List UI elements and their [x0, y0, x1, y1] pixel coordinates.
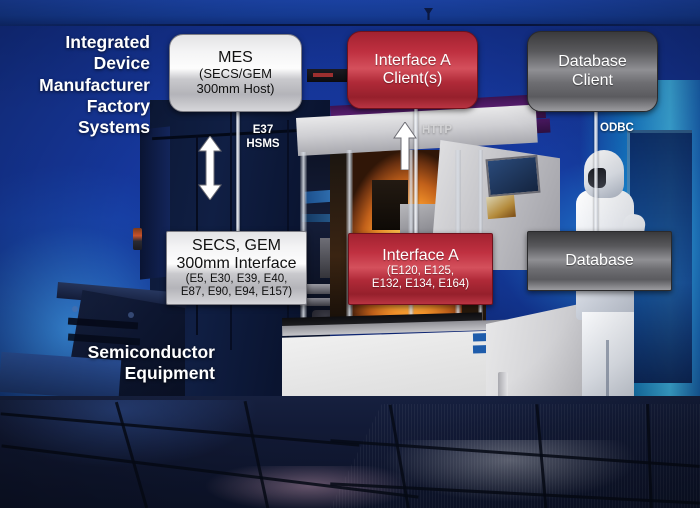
- secs-gem-line-2: 300mm Interface: [176, 255, 296, 273]
- bidirectional-arrow: [196, 136, 224, 200]
- interface-a-line-2: (E120, E125,: [387, 265, 454, 278]
- semiconductor-equipment-caption: Semiconductor Equipment: [40, 342, 215, 385]
- tool-keypad: [486, 195, 516, 219]
- mes-node[interactable]: MES (SECS/GEM 300mm Host): [169, 34, 302, 112]
- secs-gem-interface-node[interactable]: SECS, GEM 300mm Interface (E5, E30, E39,…: [166, 231, 307, 305]
- diagram-screenshot: E37 HSMS HTTP ODBC MES (SECS/GEM 300mm H…: [0, 0, 700, 508]
- base-fastener: [72, 306, 78, 312]
- interface-a-clients-line-1: Interface A: [374, 52, 451, 70]
- interface-a-clients-node[interactable]: Interface A Client(s): [347, 31, 478, 109]
- base-fastener: [128, 312, 134, 318]
- ceiling-seam: [0, 24, 700, 26]
- mes-node-line-1: MES: [218, 49, 253, 67]
- interface-a-line-3: E132, E134, E164): [372, 278, 469, 291]
- idm-factory-systems-caption: Integrated Device Manufacturer Factory S…: [20, 32, 150, 139]
- database-client-line-2: Client: [572, 72, 613, 90]
- mes-node-line-2: (SECS/GEM: [199, 67, 272, 82]
- database-client-node[interactable]: Database Client: [527, 31, 658, 112]
- connector-label-e37-hsms: E37 HSMS: [228, 124, 298, 152]
- secs-gem-line-3: (E5, E30, E39, E40,: [186, 273, 288, 286]
- connector-label-odbc: ODBC: [586, 122, 690, 136]
- database-line-1: Database: [565, 252, 634, 270]
- secs-gem-line-4: E87, E90, E94, E157): [181, 286, 292, 299]
- database-node[interactable]: Database: [527, 231, 672, 291]
- secs-gem-line-1: SECS, GEM: [192, 237, 281, 255]
- interface-a-clients-line-2: Client(s): [383, 70, 443, 88]
- interface-a-line-1: Interface A: [382, 247, 459, 265]
- mes-node-line-3: 300mm Host): [196, 82, 274, 97]
- interface-a-node[interactable]: Interface A (E120, E125, E132, E134, E16…: [348, 233, 493, 305]
- small-canister: [133, 228, 142, 250]
- database-client-line-1: Database: [558, 53, 627, 71]
- tool-display-screen: [485, 155, 540, 197]
- connector-mes-to-secs: [236, 100, 240, 245]
- connector-label-http: HTTP: [408, 124, 512, 138]
- cleanroom-ceiling: [0, 0, 700, 26]
